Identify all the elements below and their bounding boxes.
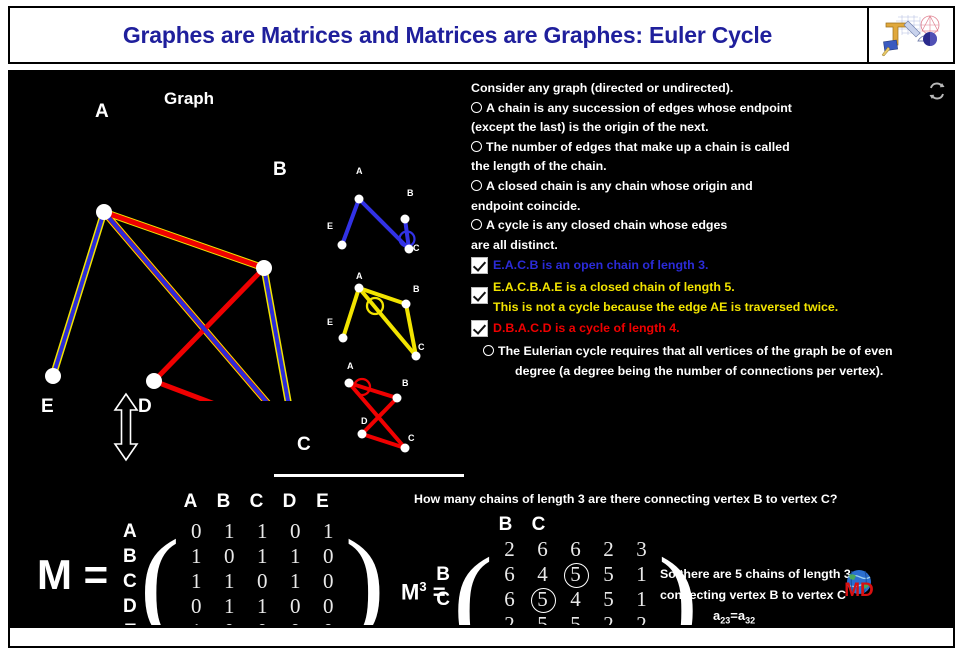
- adj-cell: 0: [312, 619, 345, 626]
- m3-row-b: B: [434, 562, 450, 587]
- m3-cell-circled: 5: [559, 562, 592, 587]
- m3-cell: 5: [526, 612, 559, 626]
- mini3-vertex-label-b: B: [402, 378, 409, 388]
- checkbox-row-red[interactable]: D.B.A.C.D is a cycle of length 4.: [471, 319, 919, 338]
- m3-cell: 5: [592, 562, 625, 587]
- blue-chain-edges: [53, 212, 294, 401]
- m3-cell: 4: [526, 562, 559, 587]
- checkbox-red[interactable]: [471, 320, 488, 337]
- checkbox-blue[interactable]: [471, 257, 488, 274]
- conclusion-line-1: So there are 5 chains of length 3: [660, 564, 851, 585]
- adj-cell: 1: [180, 569, 213, 594]
- adj-row-c: C: [123, 569, 137, 594]
- adjacency-row-headers: A B C D E: [123, 519, 137, 626]
- math-tools-clipart-icon: [878, 13, 944, 57]
- adj-cell: 1: [213, 519, 246, 544]
- checkbox-row-blue[interactable]: E.A.C.B is an open chain of length 3.: [471, 256, 919, 275]
- m3-cell: 6: [559, 537, 592, 562]
- double-headed-up-down-arrow-icon: [109, 391, 143, 463]
- main-graph-diagram: [9, 71, 339, 401]
- mini1-vertex-label-c: C: [413, 243, 420, 253]
- adj-cell: 0: [279, 594, 312, 619]
- m3-col-b: B: [489, 514, 522, 536]
- page-title: Graphes are Matrices and Matrices are Gr…: [10, 22, 867, 49]
- yellow-chain-edges: [53, 212, 294, 401]
- mini1-vertex-label-a: A: [356, 166, 363, 176]
- adj-cell: 1: [213, 594, 246, 619]
- adj-cell: 1: [246, 544, 279, 569]
- vertex-label-e: E: [41, 396, 54, 418]
- note-bullet-3-cont: endpoint coincide.: [471, 197, 919, 217]
- aij-sub1: 23: [720, 616, 730, 626]
- aij-formula: a23=a32: [713, 608, 755, 626]
- mini3-vertex-label-d: D: [361, 416, 368, 426]
- m3-exponent: 3: [419, 579, 426, 594]
- m3-cell: 4: [559, 587, 592, 612]
- circle-bullet-icon: [471, 141, 482, 152]
- svg-text:MD: MD: [844, 580, 874, 601]
- mini3-vertex-label-c: C: [408, 433, 415, 443]
- m3-cell: 2: [592, 612, 625, 626]
- adj-cell: 1: [279, 569, 312, 594]
- adj-cell: 1: [180, 619, 213, 626]
- note-bullet-4-text: A cycle is any closed chain whose edges: [486, 218, 727, 232]
- adjacency-cells: 0 1 1 0 1 1 0 1 1 0 1 1 0 1 0 0 1 1 0 0: [180, 519, 345, 626]
- m3-cell: 6: [493, 562, 526, 587]
- m3-row-1: [434, 537, 450, 562]
- vertex-label-b: B: [273, 159, 287, 181]
- m3-cell-circled: 5: [526, 587, 559, 612]
- check-red-text: D.B.A.C.D is a cycle of length 4.: [493, 319, 680, 338]
- adj-cell: 0: [180, 519, 213, 544]
- header-logo-cell: [867, 8, 953, 62]
- adj-cell: 0: [312, 544, 345, 569]
- mini2-vertex-label-b: B: [413, 284, 420, 294]
- section-divider: [274, 474, 464, 477]
- adj-cell: 0: [246, 569, 279, 594]
- checkbox-yellow[interactable]: [471, 287, 488, 304]
- slide-page: Graphes are Matrices and Matrices are Gr…: [0, 0, 963, 658]
- adj-col-a: A: [174, 491, 207, 513]
- adj-cell: 0: [312, 569, 345, 594]
- check-yellow-block: E.A.C.B.A.E is a closed chain of length …: [493, 277, 838, 317]
- check-yellow-text-1: E.A.C.B.A.E is a closed chain of length …: [493, 277, 838, 297]
- note-bullet-1: A chain is any succession of edges whose…: [471, 99, 919, 119]
- mini2-vertex-label-a: A: [356, 271, 363, 281]
- m-equals-label: M =: [37, 551, 108, 599]
- m3-cell: 2: [493, 537, 526, 562]
- adj-row-b: B: [123, 544, 137, 569]
- m3-cells: 2 6 6 2 3 6 4 5 5 1 6 5 4 5 1 2 5 5 2 2: [493, 537, 658, 626]
- adj-cell: 0: [312, 594, 345, 619]
- m3-cell: 3: [625, 537, 658, 562]
- adj-cell: 1: [312, 519, 345, 544]
- notes-intro: Consider any graph (directed or undirect…: [471, 79, 919, 99]
- m3-row-headers: B C: [434, 537, 450, 626]
- refresh-cycle-icon[interactable]: [927, 81, 947, 106]
- matrix-left-paren: (: [140, 530, 180, 626]
- mini1-vertex-label-b: B: [407, 188, 414, 198]
- note-bullet-4: A cycle is any closed chain whose edges: [471, 216, 919, 236]
- footer-strip: [8, 626, 955, 648]
- m3-row-c: C: [434, 587, 450, 612]
- adj-cell: 0: [279, 519, 312, 544]
- note-bullet-2-text: The number of edges that make up a chain…: [486, 140, 790, 154]
- adj-col-d: D: [273, 491, 306, 513]
- note-bullet-3: A closed chain is any chain whose origin…: [471, 177, 919, 197]
- checkbox-row-yellow[interactable]: E.A.C.B.A.E is a closed chain of length …: [471, 277, 919, 317]
- circle-bullet-icon: [471, 219, 482, 230]
- euler-note-text-1: The Eulerian cycle requires that all ver…: [498, 344, 893, 358]
- adjacency-col-headers: A B C D E: [145, 491, 339, 513]
- vertex-label-a: A: [95, 101, 109, 123]
- note-bullet-4-cont: are all distinct.: [471, 236, 919, 256]
- aij-sub2: 32: [745, 616, 755, 626]
- note-bullet-2-cont: the length of the chain.: [471, 157, 919, 177]
- adj-col-c: C: [240, 491, 273, 513]
- mini-graph-red-cycle: [309, 356, 439, 456]
- note-bullet-1-text: A chain is any succession of edges whose…: [486, 101, 792, 115]
- m3-cell: 5: [559, 612, 592, 626]
- m3-matrix: B C ( 2 6 6 2 3 6 4 5 5 1 6 5 4 5: [434, 537, 698, 626]
- m3-left-paren: (: [453, 548, 493, 626]
- euler-note-line-1: The Eulerian cycle requires that all ver…: [471, 342, 919, 362]
- md-globe-logo-icon: MD: [842, 568, 876, 602]
- m3-cell: 1: [625, 562, 658, 587]
- note-bullet-1-cont: (except the last) is the origin of the n…: [471, 118, 919, 138]
- adj-cell: 0: [180, 594, 213, 619]
- adj-col-b: B: [207, 491, 240, 513]
- adj-row-e: E: [123, 619, 137, 626]
- adj-cell: 1: [246, 519, 279, 544]
- matrix-right-paren: ): [345, 530, 385, 626]
- question-text: How many chains of length 3 are there co…: [414, 492, 837, 506]
- mini3-vertex-label-a: A: [347, 361, 354, 371]
- mini2-vertex-label-e: E: [327, 317, 333, 327]
- circle-bullet-icon: [471, 180, 482, 191]
- m3-cell: 2: [592, 537, 625, 562]
- m3-col-c: C: [522, 514, 555, 536]
- m3-letter: M: [401, 579, 419, 604]
- adj-cell: 1: [279, 544, 312, 569]
- m3-cell: 6: [493, 587, 526, 612]
- adj-cell: 0: [279, 619, 312, 626]
- circle-bullet-icon: [483, 345, 494, 356]
- adj-row-a: A: [123, 519, 137, 544]
- adjacency-matrix: A B C D E ( 0 1 1 0 1 1 0 1 1 0 1 1 0: [123, 519, 385, 626]
- adj-cell: 1: [246, 594, 279, 619]
- slide-canvas: Graph: [8, 70, 955, 626]
- note-bullet-2: The number of edges that make up a chain…: [471, 138, 919, 158]
- m3-cell: 5: [592, 587, 625, 612]
- adj-cell: 0: [213, 619, 246, 626]
- note-bullet-3-text: A closed chain is any chain whose origin…: [486, 179, 753, 193]
- check-yellow-text-2: This is not a cycle because the edge AE …: [493, 297, 838, 317]
- adj-cell: 0: [246, 619, 279, 626]
- adj-col-e: E: [306, 491, 339, 513]
- m3-row-4: [434, 612, 450, 626]
- m3-cell: 1: [625, 587, 658, 612]
- adj-cell: 1: [213, 569, 246, 594]
- header-bar: Graphes are Matrices and Matrices are Gr…: [8, 6, 955, 64]
- adj-row-d: D: [123, 594, 137, 619]
- m3-cell: 6: [526, 537, 559, 562]
- euler-note-line-2: degree (a degree being the number of con…: [471, 362, 919, 382]
- mini2-vertex-label-c: C: [418, 342, 425, 352]
- notes-panel: Consider any graph (directed or undirect…: [471, 79, 919, 382]
- m3-cell: 2: [493, 612, 526, 626]
- adj-cell: 1: [180, 544, 213, 569]
- m3-cell: 2: [625, 612, 658, 626]
- check-blue-text: E.A.C.B is an open chain of length 3.: [493, 256, 708, 275]
- m3-col-4: [555, 514, 588, 536]
- adj-cell: 0: [213, 544, 246, 569]
- mini1-vertex-label-e: E: [327, 221, 333, 231]
- circle-bullet-icon: [471, 102, 482, 113]
- conclusion-line-2: connecting vertex B to vertex C: [660, 585, 851, 606]
- m3-col-5: [588, 514, 621, 536]
- aij-eq: =a: [730, 608, 745, 623]
- conclusion-text: So there are 5 chains of length 3 connec…: [660, 564, 851, 606]
